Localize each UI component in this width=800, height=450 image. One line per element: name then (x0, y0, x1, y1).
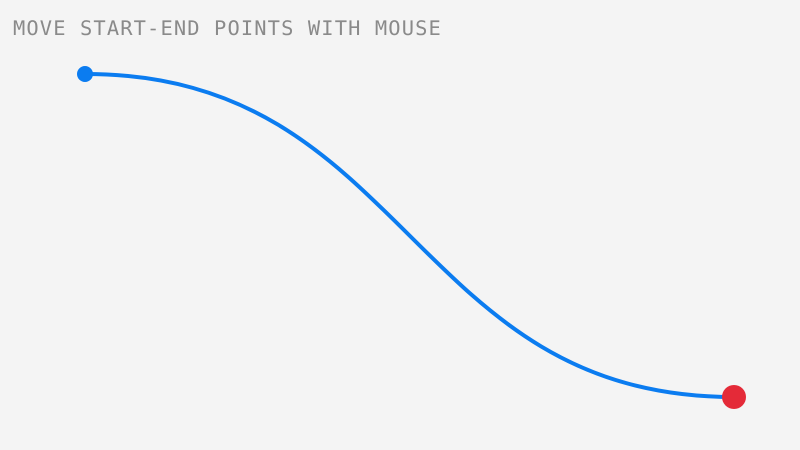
page-title: MOVE START-END POINTS WITH MOUSE (13, 16, 442, 40)
canvas-stage[interactable]: MOVE START-END POINTS WITH MOUSE (0, 0, 800, 450)
end-point-handle[interactable] (722, 385, 746, 409)
bezier-curve (85, 74, 734, 397)
start-point-handle[interactable] (77, 66, 93, 82)
bezier-canvas[interactable] (0, 0, 800, 450)
